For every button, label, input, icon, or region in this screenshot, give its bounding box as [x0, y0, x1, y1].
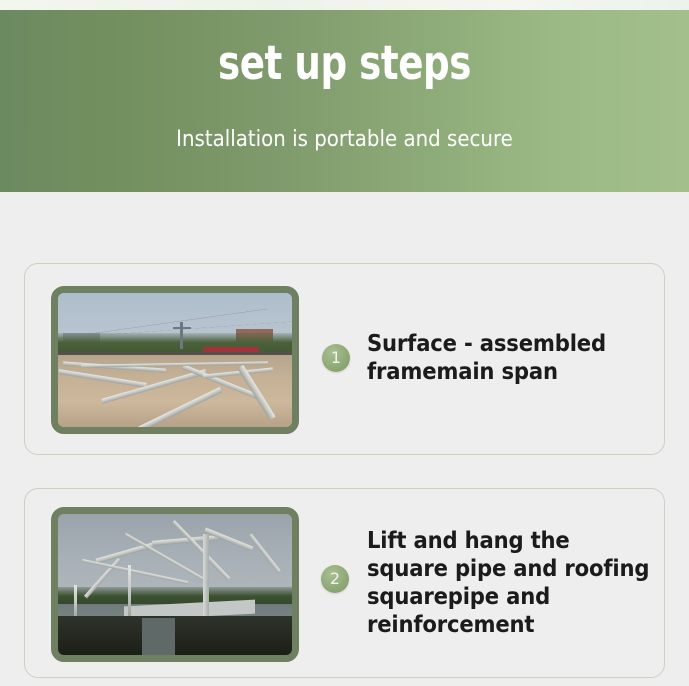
photo-tent-center-post — [203, 534, 209, 619]
step-1-photo-inner — [58, 293, 292, 427]
page-subtitle: Installation is portable and secure — [34, 129, 654, 151]
photo-dark-railing — [58, 616, 292, 655]
photo-utility-pole-arm — [173, 327, 192, 329]
step-1-description: Surface - assembled framemain span — [367, 330, 643, 386]
step-card-2[interactable]: 2 Lift and hang the square pipe and roof… — [24, 488, 665, 678]
page-banner: set up steps Installation is portable an… — [0, 10, 689, 192]
step-2-photo[interactable] — [51, 507, 299, 662]
page-title: set up steps — [41, 40, 647, 87]
step-card-1[interactable]: 1 Surface - assembled framemain span — [24, 263, 665, 455]
step-2-description: Lift and hang the square pipe and roofin… — [367, 527, 652, 639]
photo-tent-leg — [128, 565, 131, 619]
photo-railing-gap — [142, 618, 175, 655]
page-top-strip — [0, 0, 689, 10]
step-number-badge-2: 2 — [321, 565, 349, 593]
step-number-badge-1: 1 — [322, 344, 350, 372]
step-2-photo-inner — [58, 514, 292, 655]
step-1-photo[interactable] — [51, 286, 299, 434]
